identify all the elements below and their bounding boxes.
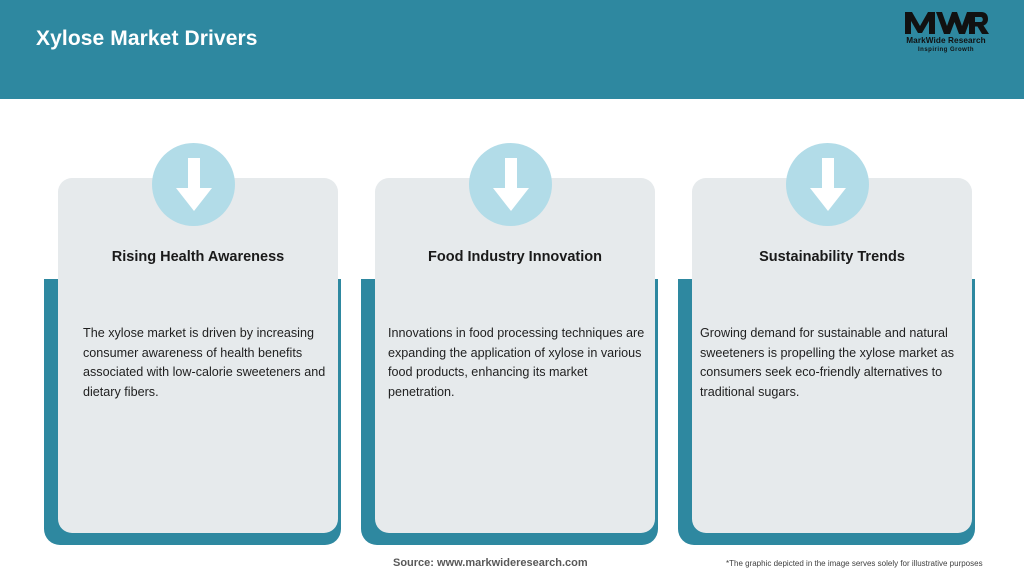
down-arrow-glyph — [491, 158, 531, 212]
logo-company-name: MarkWide Research — [890, 36, 1002, 46]
driver-card: Sustainability Trends Growing demand for… — [672, 99, 972, 539]
card-body-text: Growing demand for sustainable and natur… — [700, 324, 968, 402]
down-arrow-glyph — [808, 158, 848, 212]
brand-logo: MarkWide Research Inspiring Growth — [890, 9, 1002, 61]
card-heading: Food Industry Innovation — [375, 249, 655, 265]
card-heading: Rising Health Awareness — [58, 249, 338, 265]
down-arrow-icon — [786, 143, 869, 226]
driver-card: Food Industry Innovation Innovations in … — [355, 99, 655, 539]
card-heading: Sustainability Trends — [692, 249, 972, 265]
card-body-text: The xylose market is driven by increasin… — [83, 324, 338, 402]
driver-card: Rising Health Awareness The xylose marke… — [38, 99, 338, 539]
down-arrow-glyph — [174, 158, 214, 212]
disclaimer-label: *The graphic depicted in the image serve… — [726, 559, 983, 568]
page-title: Xylose Market Drivers — [36, 27, 258, 51]
mwr-logo-icon — [903, 9, 989, 35]
down-arrow-icon — [152, 143, 235, 226]
logo-tagline: Inspiring Growth — [890, 46, 1002, 54]
down-arrow-icon — [469, 143, 552, 226]
drivers-card-row: Rising Health Awareness The xylose marke… — [0, 99, 1024, 539]
card-body-text: Innovations in food processing technique… — [388, 324, 654, 402]
source-label: Source: www.markwideresearch.com — [393, 557, 588, 569]
